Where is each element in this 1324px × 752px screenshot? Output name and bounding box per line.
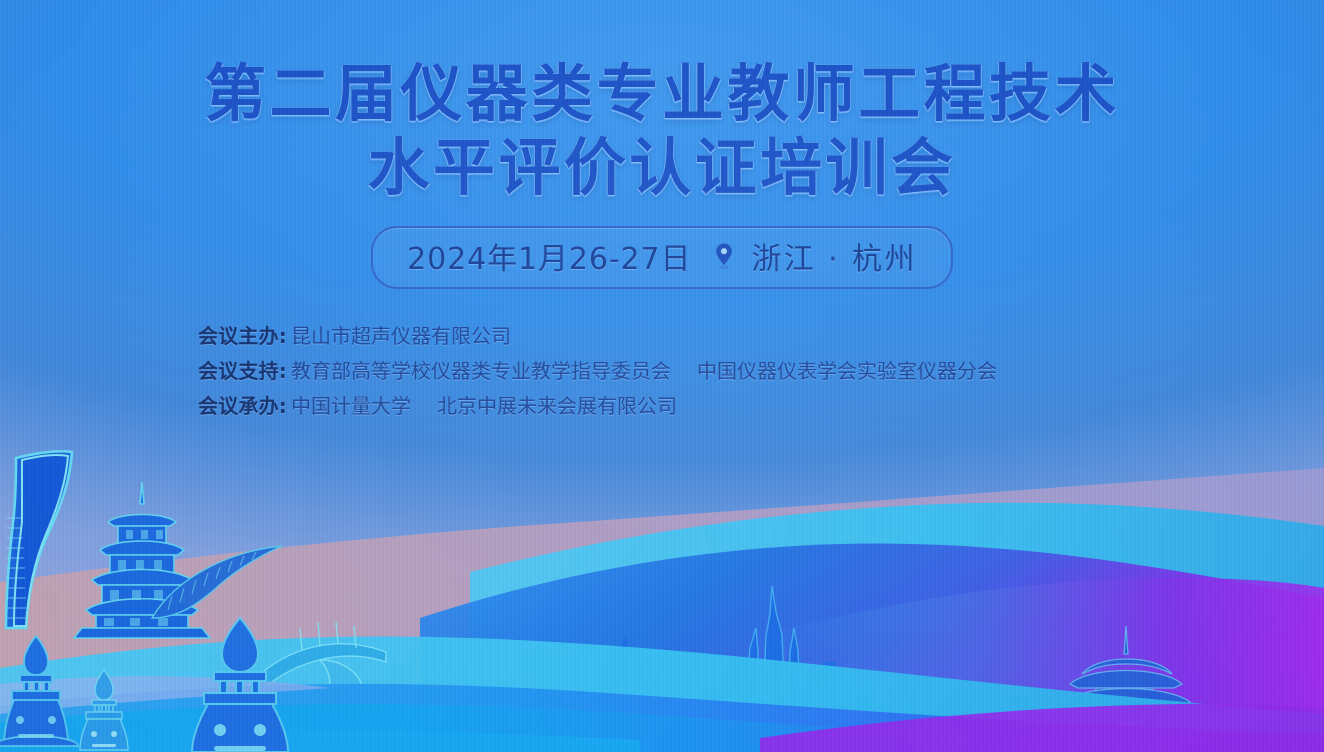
organizer-row: 会议主办:昆山市超声仪器有限公司 <box>198 319 1324 354</box>
date-location-row: 2024年1月26-27日 浙江 · 杭州 <box>0 226 1324 289</box>
event-location: 浙江 · 杭州 <box>751 234 916 278</box>
organizer-label: 会议支持: <box>198 359 287 383</box>
organizer-row: 会议承办:中国计量大学北京中展未来会展有限公司 <box>198 389 1324 424</box>
page-title-line2: 水平评价认证培训会 <box>0 132 1324 204</box>
hangzhou-skyline-illustration <box>0 422 1324 752</box>
page-title-line1: 第二届仪器类专业教师工程技术 <box>0 58 1324 130</box>
event-date: 2024年1月26-27日 <box>407 234 691 278</box>
organizer-value-secondary: 中国仪器仪表学会实验室仪器分会 <box>697 359 997 383</box>
organizer-value: 教育部高等学校仪器类专业教学指导委员会 <box>291 359 671 383</box>
organizers-list: 会议主办:昆山市超声仪器有限公司 会议支持:教育部高等学校仪器类专业教学指导委员… <box>198 319 1324 424</box>
organizer-label: 会议承办: <box>198 394 287 418</box>
banner-text-block: 第二届仪器类专业教师工程技术 水平评价认证培训会 2024年1月26-27日 浙… <box>0 0 1324 424</box>
organizer-value: 昆山市超声仪器有限公司 <box>291 324 511 348</box>
organizer-label: 会议主办: <box>198 324 287 348</box>
organizer-row: 会议支持:教育部高等学校仪器类专业教学指导委员会中国仪器仪表学会实验室仪器分会 <box>198 354 1324 389</box>
conference-banner: 第二届仪器类专业教师工程技术 水平评价认证培训会 2024年1月26-27日 浙… <box>0 0 1324 752</box>
date-location-pill: 2024年1月26-27日 浙江 · 杭州 <box>371 226 953 289</box>
organizer-value-secondary: 北京中展未来会展有限公司 <box>437 394 677 418</box>
map-pin-icon <box>713 242 735 270</box>
organizer-value: 中国计量大学 <box>291 394 411 418</box>
